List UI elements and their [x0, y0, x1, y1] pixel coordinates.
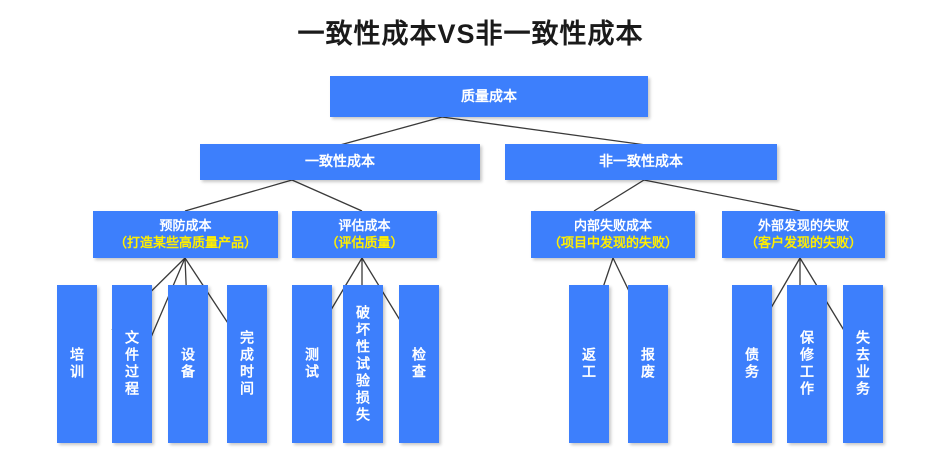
leaf-scrap[interactable]: 报废 — [628, 285, 668, 443]
leaf-testing[interactable]: 测试 — [292, 285, 332, 443]
leaf-testing-label: 测试 — [305, 347, 319, 381]
node-cost-of-nonconformance[interactable]: 非一致性成本 — [505, 144, 777, 180]
node-prevention-cost-label: 预防成本 （打造某些高质量产品） — [114, 218, 257, 251]
leaf-time-to-complete[interactable]: 完成时间 — [227, 285, 267, 443]
leaf-destructive-test-loss[interactable]: 破坏性试验损失 — [343, 285, 383, 443]
node-external-failure-cost-title: 外部发现的失败 — [758, 218, 849, 233]
node-external-failure-cost[interactable]: 外部发现的失败 （客户发现的失败） — [722, 211, 885, 258]
node-internal-failure-cost-sub: （项目中发现的失败） — [548, 235, 678, 251]
node-appraisal-cost-label: 评估成本 （评估质量） — [325, 218, 403, 251]
leaf-warranty-work[interactable]: 保修工作 — [787, 285, 827, 443]
leaf-inspection[interactable]: 检查 — [399, 285, 439, 443]
node-internal-failure-cost-title: 内部失败成本 — [574, 218, 652, 233]
leaf-document-process-label: 文件过程 — [125, 330, 139, 398]
leaf-destructive-test-loss-label: 破坏性试验损失 — [356, 305, 370, 424]
node-appraisal-cost[interactable]: 评估成本 （评估质量） — [292, 211, 437, 258]
leaf-equipment-label: 设备 — [181, 347, 195, 381]
diagram-canvas: 一致性成本VS非一致性成本 — [0, 0, 941, 460]
node-root[interactable]: 质量成本 — [330, 76, 648, 117]
leaf-training-label: 培训 — [70, 347, 84, 381]
node-external-failure-cost-sub: （客户发现的失败） — [745, 235, 862, 251]
node-root-label: 质量成本 — [461, 88, 517, 106]
leaf-warranty-work-label: 保修工作 — [800, 330, 814, 398]
leaf-rework[interactable]: 返工 — [569, 285, 609, 443]
node-appraisal-cost-sub: （评估质量） — [325, 235, 403, 251]
leaf-lost-business[interactable]: 失去业务 — [843, 285, 883, 443]
node-prevention-cost-title: 预防成本 — [159, 218, 211, 233]
leaf-rework-label: 返工 — [582, 347, 596, 381]
leaf-inspection-label: 检查 — [412, 347, 426, 381]
node-prevention-cost[interactable]: 预防成本 （打造某些高质量产品） — [93, 211, 278, 258]
node-cost-of-conformance-label: 一致性成本 — [305, 153, 375, 171]
leaf-liabilities-label: 债务 — [745, 347, 759, 381]
leaf-training[interactable]: 培训 — [57, 285, 97, 443]
node-appraisal-cost-title: 评估成本 — [338, 218, 390, 233]
node-internal-failure-cost[interactable]: 内部失败成本 （项目中发现的失败） — [531, 211, 695, 258]
leaf-equipment[interactable]: 设备 — [168, 285, 208, 443]
node-external-failure-cost-label: 外部发现的失败 （客户发现的失败） — [745, 218, 862, 251]
leaf-scrap-label: 报废 — [641, 347, 655, 381]
leaf-lost-business-label: 失去业务 — [856, 330, 870, 398]
node-prevention-cost-sub: （打造某些高质量产品） — [114, 235, 257, 251]
diagram-title: 一致性成本VS非一致性成本 — [0, 12, 941, 51]
node-cost-of-conformance[interactable]: 一致性成本 — [200, 144, 480, 180]
leaf-document-process[interactable]: 文件过程 — [112, 285, 152, 443]
leaf-time-to-complete-label: 完成时间 — [240, 330, 254, 398]
leaf-liabilities[interactable]: 债务 — [732, 285, 772, 443]
node-cost-of-nonconformance-label: 非一致性成本 — [599, 153, 683, 171]
node-internal-failure-cost-label: 内部失败成本 （项目中发现的失败） — [548, 218, 678, 251]
